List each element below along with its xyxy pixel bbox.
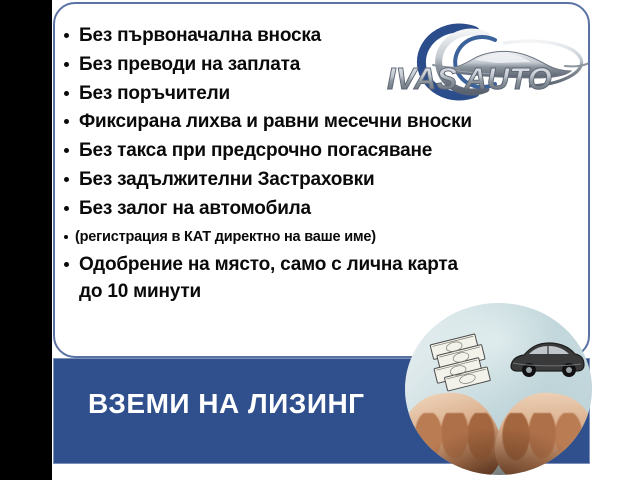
list-item-note: (регистрация в КАТ директно на ваше име) xyxy=(62,224,592,251)
list-item: Без залог на автомобила xyxy=(62,195,592,224)
hands-money-car-photo xyxy=(405,303,592,475)
list-item: Без задължителни Застраховки xyxy=(62,166,592,195)
company-logo: IVAS AUTO xyxy=(383,23,588,101)
poster: Без първоначална вноска Без преводи на з… xyxy=(0,0,640,480)
logo-wordmark: IVAS AUTO xyxy=(387,61,552,96)
banner-headline: ВЗЕМИ НА ЛИЗИНГ xyxy=(88,388,418,420)
car-icon xyxy=(507,335,587,379)
list-item: Без такса при предсрочно погасяване xyxy=(62,137,592,166)
list-item: Одобрение на място, само с лична карта д… xyxy=(62,251,592,305)
list-item: Фиксирана лихва и равни месечни вноски xyxy=(62,108,592,137)
left-black-bar xyxy=(0,0,52,480)
money-stack-icon xyxy=(425,331,505,397)
